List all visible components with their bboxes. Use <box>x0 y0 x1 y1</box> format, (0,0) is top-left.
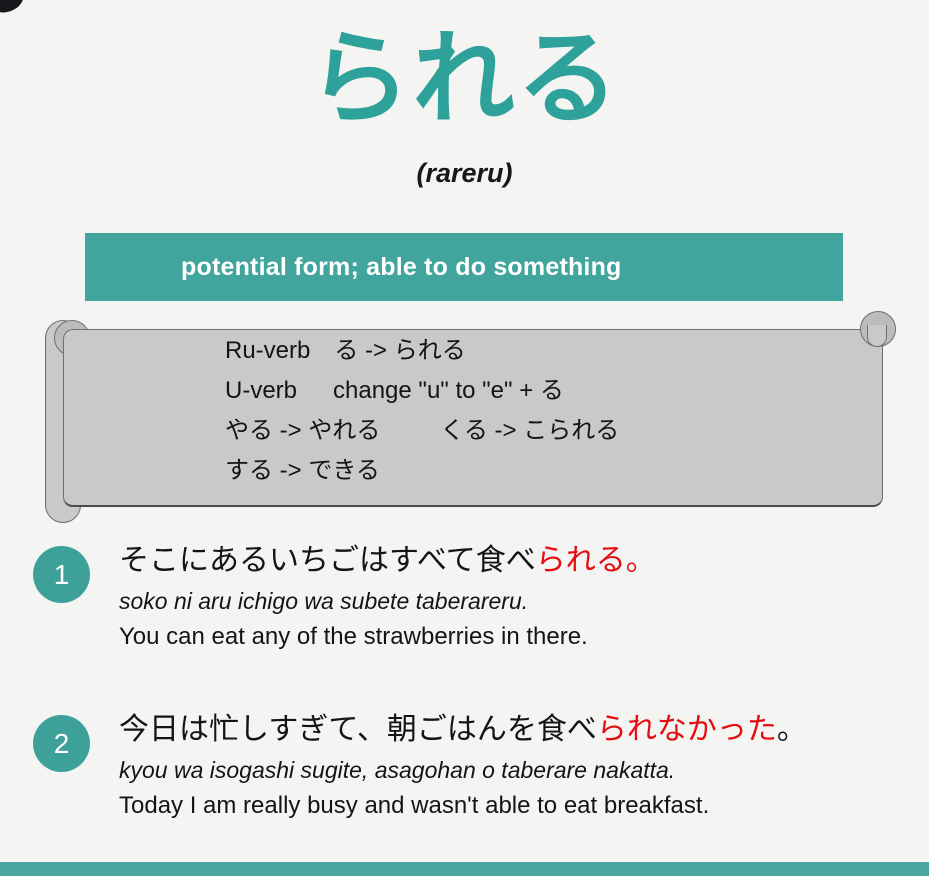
example-japanese-suffix: 。 <box>777 713 807 746</box>
bottom-accent-bar <box>0 862 929 876</box>
example-number-badge: 1 <box>33 546 90 603</box>
conjugation-scroll: Ru-verb る -> られる U-verb change "u" to "e… <box>40 311 895 526</box>
example-japanese-highlight: られる。 <box>536 544 656 577</box>
example-romaji: kyou wa isogashi sugite, asagohan o tabe… <box>119 752 919 788</box>
example-english: Today I am really busy and wasn't able t… <box>119 788 919 824</box>
meaning-text: potential form; able to do something <box>85 253 622 282</box>
scroll-curl-right-icon <box>867 325 887 347</box>
example-japanese-prefix: 今日は忙しすぎて、朝ごはんを食べ <box>119 713 597 746</box>
example-japanese: 今日は忙しすぎて、朝ごはんを食べられなかった。 <box>119 708 919 752</box>
conjugation-line: Ru-verb る -> られる <box>225 331 619 371</box>
conjugation-line: U-verb change "u" to "e" + る <box>225 371 619 411</box>
example-japanese-prefix: そこにあるいちごはすべて食べ <box>119 544 536 577</box>
conjugation-line: する -> できる <box>225 451 619 491</box>
example-japanese: そこにあるいちごはすべて食べられる。 <box>119 539 919 583</box>
example-english: You can eat any of the strawberries in t… <box>119 619 919 655</box>
example-number-badge: 2 <box>33 715 90 772</box>
page-title: られる <box>0 18 929 140</box>
example-body: そこにあるいちごはすべて食べられる。 soko ni aru ichigo wa… <box>119 539 919 655</box>
example-body: 今日は忙しすぎて、朝ごはんを食べられなかった。 kyou wa isogashi… <box>119 708 919 824</box>
corner-artifact <box>0 0 26 14</box>
conjugation-line: やる -> やれる くる -> こられる <box>225 411 619 451</box>
example-japanese-highlight: られなかった <box>597 713 777 746</box>
conjugation-rules: Ru-verb る -> られる U-verb change "u" to "e… <box>225 331 619 491</box>
example-romaji: soko ni aru ichigo wa subete taberareru. <box>119 583 919 619</box>
meaning-banner: potential form; able to do something <box>85 233 843 301</box>
title-romaji: (rareru) <box>0 158 929 189</box>
